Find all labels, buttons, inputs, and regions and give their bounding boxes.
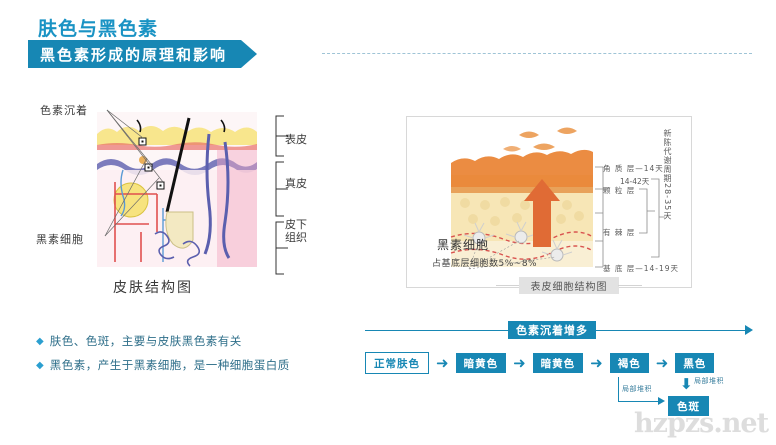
flow-steps: 正常肤色 ➜ 暗黄色 ➜ 暗黄色 ➜ 褐色 ➜ 黑色: [365, 352, 714, 374]
flow-step-brown: 褐色: [610, 353, 649, 373]
diamond-bullet-icon: ◆: [36, 334, 44, 349]
flow-arrow-icon: ➜: [513, 353, 526, 373]
bullet-list: ◆ 肤色、色斑，主要与皮肤黑色素有关 ◆ 黑色素，产生于黑素细胞，是一种细胞蛋白…: [36, 334, 290, 382]
flow-step-normal-skin: 正常肤色: [365, 352, 429, 374]
epi-caption-rule-left: [496, 285, 520, 286]
flow-title-badge: 色素沉着增多: [508, 321, 596, 339]
section-banner: 黑色素形成的原理和影响: [28, 40, 257, 68]
epi-layer-basal: 基 底 层—14-19天: [603, 263, 679, 274]
epi-layer-cornified: 角 质 层—14天: [603, 163, 664, 174]
epi-diagram-caption: 表皮细胞结构图: [519, 277, 619, 294]
epi-melanocyte-label: 黑素细胞: [437, 236, 489, 253]
flow-note-accumulation-down: 局部堆积: [694, 376, 724, 386]
layer-label-dermis: 真皮: [285, 177, 307, 190]
epi-cycle-label: 新陈代谢周期28-35天: [662, 129, 673, 220]
skin-cross-section-illustration: [97, 112, 257, 267]
list-item: ◆ 黑色素，产生于黑素细胞，是一种细胞蛋白质: [36, 358, 290, 373]
flow-branch-arrow-icon: [658, 397, 665, 405]
callout-label-melanocyte: 黑素细胞: [36, 231, 84, 247]
flow-down-arrow-icon: ⬇: [680, 375, 693, 393]
flow-step-black: 黑色: [675, 353, 714, 373]
flow-arrow-icon: ➜: [436, 353, 449, 373]
slide-root: 肤色与黑色素 黑色素形成的原理和影响: [0, 0, 776, 445]
layer-label-subcutaneous: 皮下组织: [285, 218, 307, 244]
epi-layer-spinous: 有 棘 层: [603, 227, 635, 238]
layer-label-epidermis: 表皮: [285, 133, 307, 146]
bullet-text: 肤色、色斑，主要与皮肤黑色素有关: [50, 334, 242, 349]
list-item: ◆ 肤色、色斑，主要与皮肤黑色素有关: [36, 334, 290, 349]
section-banner-body: 黑色素形成的原理和影响: [28, 40, 241, 68]
flow-arrow-icon: ➜: [590, 353, 603, 373]
skin-diagram-caption: 皮肤结构图: [113, 277, 193, 297]
flow-branch-horizontal: [618, 401, 660, 402]
epi-caption-rule-right: [618, 285, 642, 286]
diamond-bullet-icon: ◆: [36, 358, 44, 373]
flow-note-accumulation-branch: 局部堆积: [622, 384, 652, 394]
watermark: hzpzs.net: [634, 408, 768, 439]
header-divider: [322, 53, 752, 54]
epi-middle-days: 14-42天: [620, 176, 649, 187]
epi-melanocyte-percentage: 占基底层细胞数5%~8%: [432, 256, 537, 269]
section-banner-label: 黑色素形成的原理和影响: [40, 44, 227, 65]
bullet-text: 黑色素，产生于黑素细胞，是一种细胞蛋白质: [50, 358, 290, 373]
flow-step-dull-yellow-2: 暗黄色: [533, 353, 584, 373]
flow-branch-vertical: [618, 377, 619, 402]
flow-arrow-icon: ➜: [656, 353, 669, 373]
flow-axis-arrow-icon: [745, 325, 753, 335]
flow-step-dull-yellow-1: 暗黄色: [456, 353, 507, 373]
callout-label-pigmentation: 色素沉着: [40, 102, 88, 118]
banner-arrow-icon: [241, 40, 257, 68]
page-title: 肤色与黑色素: [38, 14, 158, 41]
